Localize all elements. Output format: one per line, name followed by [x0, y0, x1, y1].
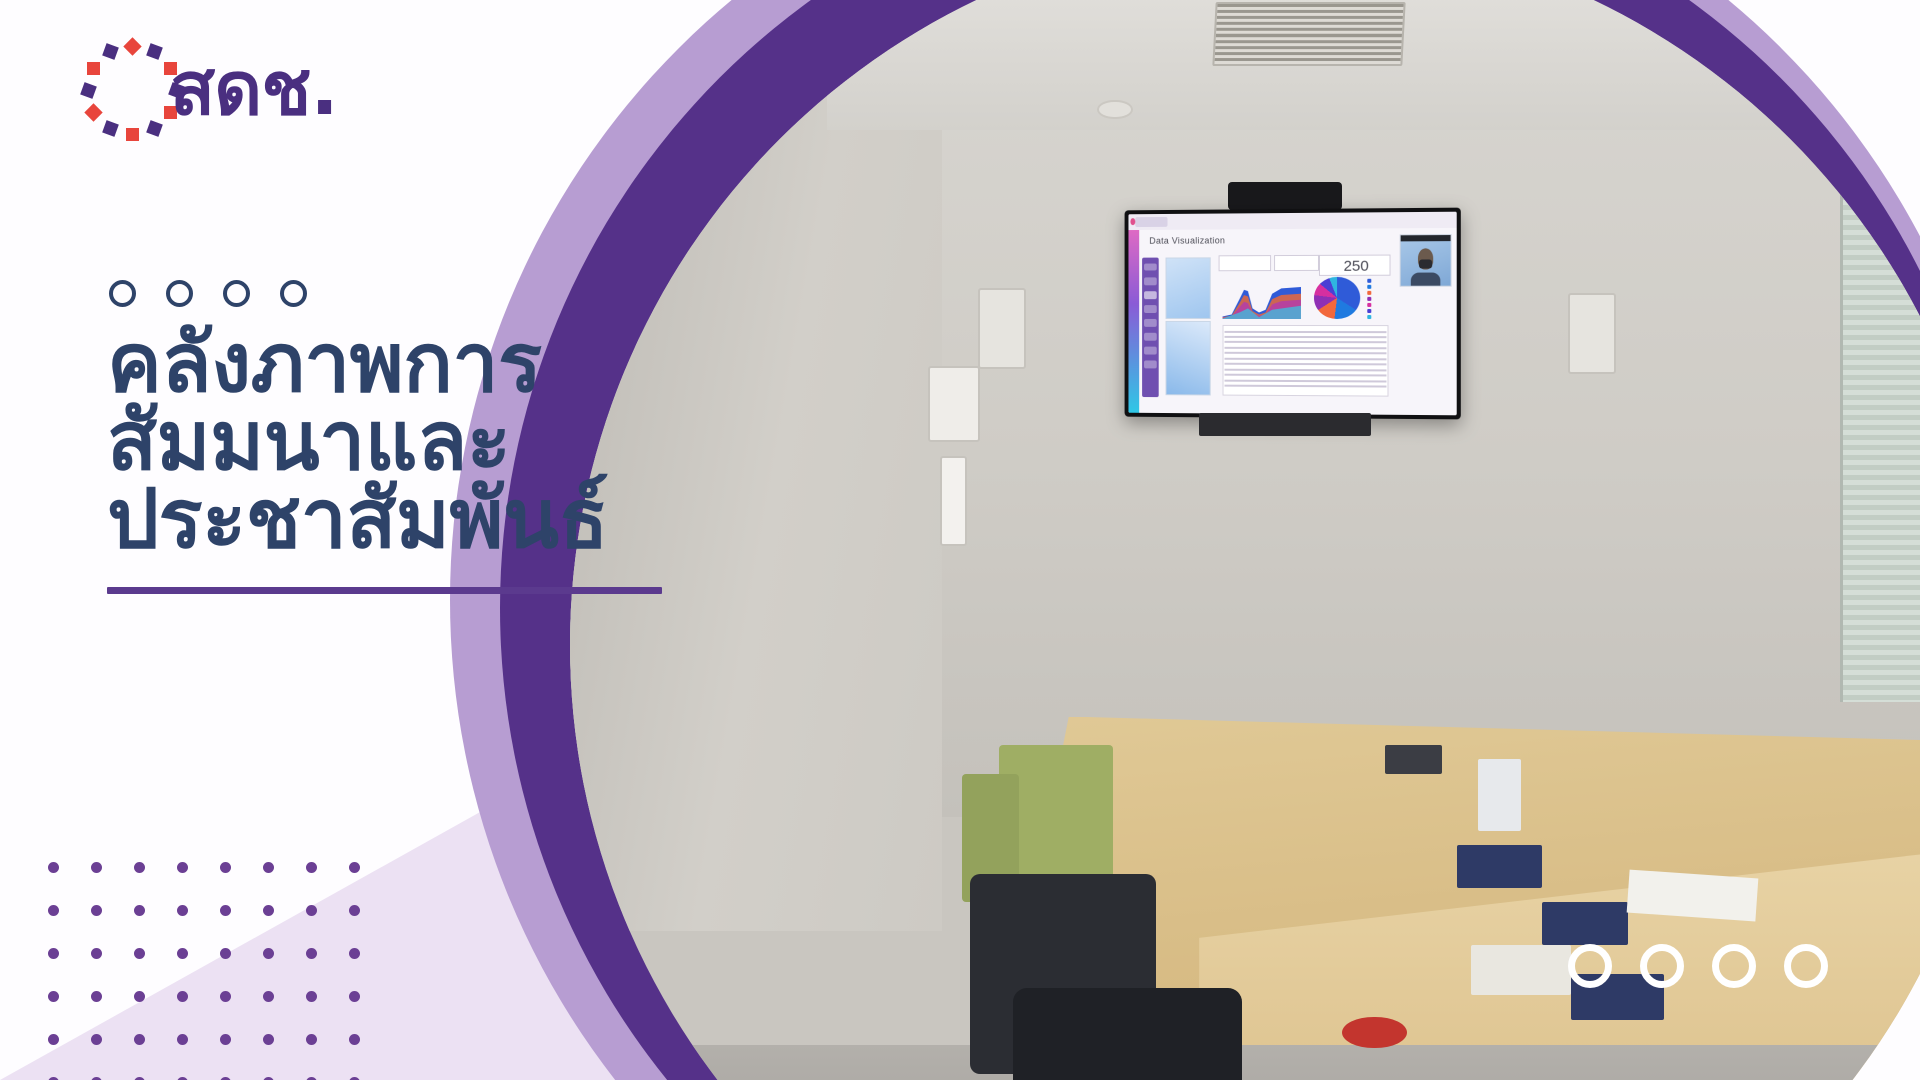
grid-dot [91, 948, 102, 959]
grid-dot [349, 862, 360, 873]
grid-dot [91, 991, 102, 1002]
grid-dot [91, 862, 102, 873]
pager-dot-icon[interactable] [1640, 944, 1684, 988]
screen-title: Data Visualization [1149, 235, 1225, 245]
meeting-photo: Data Visualization [570, 0, 1920, 1080]
grid-dot [220, 905, 231, 916]
bullet-dots [109, 280, 727, 307]
logo-square-6 [80, 82, 97, 99]
logo-square-2 [102, 44, 119, 61]
logo-square-9 [146, 120, 163, 137]
window-blinds [1840, 130, 1920, 702]
ceiling-vent [1212, 2, 1405, 66]
logo-square-8 [85, 103, 103, 121]
bullet-dot-icon [109, 280, 136, 307]
grid-dot [263, 905, 274, 916]
headline-line-1: คลังภาพการ [107, 325, 727, 403]
grid-dot [48, 948, 59, 959]
pager-dot-icon[interactable] [1568, 944, 1612, 988]
screen-kpi: 250 [1343, 258, 1368, 275]
smoke-detector-icon [1099, 102, 1130, 118]
grid-dot [48, 991, 59, 1002]
bullet-dot-icon [280, 280, 307, 307]
pager-dot-icon[interactable] [1712, 944, 1756, 988]
grid-dot [134, 948, 145, 959]
grid-dot [134, 905, 145, 916]
logo-square-11 [126, 128, 139, 141]
hero-photo-arcs: Data Visualization [540, 0, 1920, 1080]
bullet-dot-icon [223, 280, 250, 307]
video-camera-bar [1228, 182, 1342, 211]
grid-dot [177, 862, 188, 873]
presentation-screen: Data Visualization [1125, 207, 1462, 419]
brand-logo-text: สดช. [170, 52, 338, 126]
grid-dot [177, 948, 188, 959]
grid-dot [220, 862, 231, 873]
headline-line-2: สัมมนาและ [107, 403, 727, 481]
grid-dot [48, 905, 59, 916]
grid-dot [48, 862, 59, 873]
logo-square-10 [102, 120, 119, 137]
logo-square-1 [146, 44, 163, 61]
logo-square-4 [87, 62, 100, 75]
poster-canvas: Data Visualization [0, 0, 1920, 1080]
grid-dot [263, 862, 274, 873]
grid-dot [177, 905, 188, 916]
headline-line-3: ประชาสัมพันธ์ [107, 481, 727, 559]
video-participant-tile [1399, 234, 1451, 287]
grid-dot [48, 1034, 59, 1045]
pager-dot-icon[interactable] [1784, 944, 1828, 988]
page-title: คลังภาพการ สัมมนาและ ประชาสัมพันธ์ [107, 325, 727, 559]
pie-chart [1314, 277, 1360, 319]
grid-dot [91, 905, 102, 916]
logo-square-0 [123, 37, 141, 55]
grid-dot [306, 862, 317, 873]
carousel-pager[interactable] [1568, 944, 1828, 988]
bullet-dot-icon [166, 280, 193, 307]
title-underline [107, 587, 662, 594]
grid-dot [134, 862, 145, 873]
brand-logo[interactable]: สดช. [78, 30, 348, 150]
headline-block: คลังภาพการ สัมมนาและ ประชาสัมพันธ์ [107, 280, 727, 594]
